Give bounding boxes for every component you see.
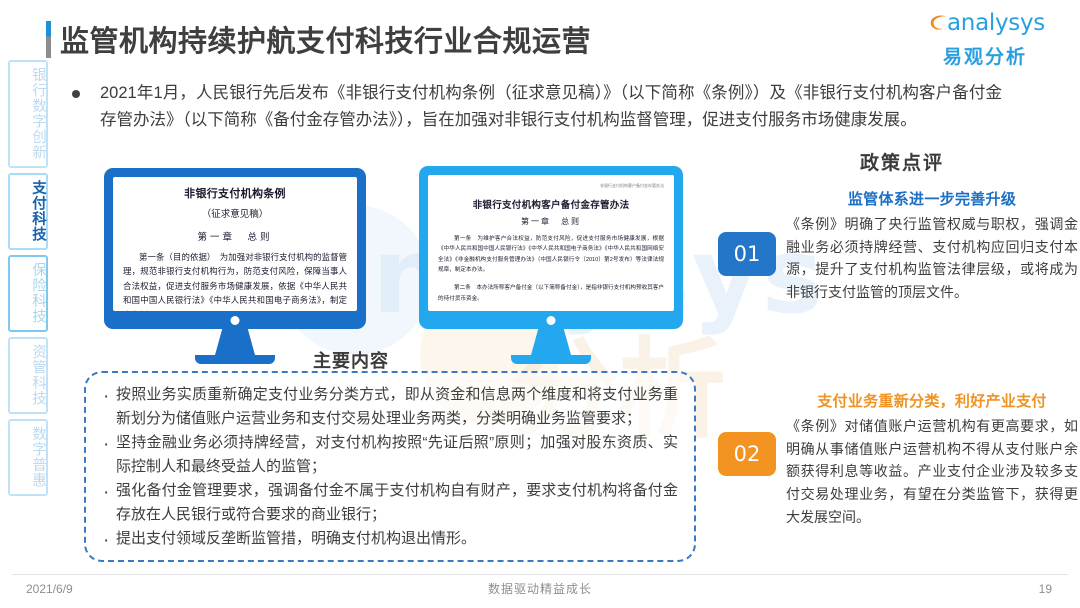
main-content-box: 按照业务实质重新确定支付业务分类方式，即从资金和信息两个维度和将支付业务重新划分…: [84, 371, 696, 562]
policy-item-heading: 支付业务重新分类，利好产业支付: [786, 390, 1078, 411]
policy-item-body: 《条例》对储值账户运营机构有更高要求，如明确从事储值账户运营机构不得从支付账户余…: [786, 415, 1078, 528]
main-content-heading: 主要内容: [0, 347, 702, 373]
document-paragraph: 第一条（目的依据） 为加强对非银行支付机构的监督管理，规范非银行支付机构行为，防…: [123, 250, 347, 311]
monitor-body: 非银行支付机构条例 （征求意见稿） 第一章 总则 第一条（目的依据） 为加强对非…: [104, 168, 366, 329]
sidebar-item-label: 保险科技: [30, 262, 46, 324]
document-paragraph: 第一条 为维护客户合法权益，防范支付风险，促进支付服务市场健康发展，根据《中华人…: [438, 234, 664, 275]
main-points-list: 按照业务实质重新确定支付业务分类方式，即从资金和信息两个维度和将支付业务重新划分…: [100, 383, 678, 551]
monitor-body: 非银行支付机构客户备付金存管办法 非银行支付机构客户备付金存管办法 第一章 总则…: [419, 166, 683, 329]
logo-wordmark: analysys: [947, 10, 1045, 36]
document-header: 非银行支付机构客户备付金存管办法: [438, 183, 664, 189]
list-item: 提出支付领域反垄断监管措，明确支付机构退出情形。: [100, 527, 678, 551]
sidebar-item-label: 支付科技: [30, 180, 46, 242]
document-chapter: 第一章 总则: [123, 229, 347, 243]
footer-page-number: 19: [900, 582, 1080, 596]
sidebar-item-insurance-tech[interactable]: 保险科技: [8, 255, 48, 332]
sidebar-item-label: 数字普惠: [30, 426, 46, 488]
sidebar-item-label: 银行数字创新: [30, 67, 46, 160]
document-title: 非银行支付机构条例: [123, 185, 347, 201]
monitor-indicator-dot: [547, 316, 556, 325]
document-subtitle: （征求意见稿）: [123, 206, 347, 220]
document-chapter: 第一章 总则: [438, 216, 664, 227]
intro-bullet-row: 2021年1月，人民银行先后发布《非银行支付机构条例（征求意见稿）》（以下简称《…: [72, 80, 1002, 133]
slide-root: analysys 分析 监管机构持续护航支付科技行业合规运营 analysys …: [0, 0, 1080, 608]
policy-badge-02: 02: [718, 432, 776, 476]
policy-item-01: 监管体系进一步完善升级 《条例》明确了央行监管权威与职权，强调金融业务必须持牌经…: [786, 188, 1078, 304]
sidebar-item-digital-inclusive[interactable]: 数字普惠: [8, 419, 48, 496]
page-title: 监管机构持续护航支付科技行业合规运营: [60, 18, 591, 60]
document-page: 非银行支付机构客户备付金存管办法 非银行支付机构客户备付金存管办法 第一章 总则…: [428, 175, 674, 311]
policy-badge-01: 01: [718, 232, 776, 276]
analysys-logo: analysys 易观分析: [922, 10, 1048, 64]
title-accent-bar: [46, 21, 51, 58]
monitor-screen: 非银行支付机构条例 （征求意见稿） 第一章 总则 第一条（目的依据） 为加强对非…: [113, 177, 357, 311]
footer-divider: [12, 574, 1068, 575]
list-item: 强化备付金管理要求，强调备付金不属于支付机构自有财产，要求支付机构将备付金存放在…: [100, 479, 678, 526]
logo-chinese: 易观分析: [922, 42, 1048, 69]
monitor-custody-rules: 非银行支付机构客户备付金存管办法 非银行支付机构客户备付金存管办法 第一章 总则…: [419, 166, 683, 364]
policy-item-02: 支付业务重新分类，利好产业支付 《条例》对储值账户运营机构有更高要求，如明确从事…: [786, 390, 1078, 528]
footer-slogan: 数据驱动精益成长: [180, 580, 900, 597]
list-item: 坚持金融业务必须持牌经营，对支付机构按照“先证后照”原则；加强对股东资质、实际控…: [100, 431, 678, 478]
footer: 2021/6/9 数据驱动精益成长 19: [0, 580, 1080, 597]
sidebar-item-payment-tech[interactable]: 支付科技: [8, 173, 48, 250]
policy-item-body: 《条例》明确了央行监管权威与职权，强调金融业务必须持牌经营、支付机构应回归支付本…: [786, 213, 1078, 304]
policy-review-title: 政策点评: [742, 148, 1062, 175]
document-title: 非银行支付机构客户备付金存管办法: [438, 197, 664, 211]
monitor-regulation-draft: 非银行支付机构条例 （征求意见稿） 第一章 总则 第一条（目的依据） 为加强对非…: [104, 168, 366, 364]
document-paragraph-2: 第二条 本办法所称客户备付金（以下简称备付金），是指非银行支付机构预收其客户的待…: [438, 283, 664, 304]
monitor-indicator-dot: [231, 316, 240, 325]
bullet-dot-icon: [72, 90, 80, 98]
intro-bullet-text: 2021年1月，人民银行先后发布《非银行支付机构条例（征求意见稿）》（以下简称《…: [100, 80, 1002, 133]
sidebar-item-bank-digital[interactable]: 银行数字创新: [8, 60, 48, 168]
footer-date: 2021/6/9: [0, 582, 180, 596]
sidebar-nav: 银行数字创新 支付科技 保险科技 资管科技 数字普惠: [8, 60, 48, 501]
list-item: 按照业务实质重新确定支付业务分类方式，即从资金和信息两个维度和将支付业务重新划分…: [100, 383, 678, 430]
monitor-screen: 非银行支付机构客户备付金存管办法 非银行支付机构客户备付金存管办法 第一章 总则…: [428, 175, 674, 311]
policy-item-heading: 监管体系进一步完善升级: [786, 188, 1078, 209]
document-page: 非银行支付机构条例 （征求意见稿） 第一章 总则 第一条（目的依据） 为加强对非…: [113, 177, 357, 311]
